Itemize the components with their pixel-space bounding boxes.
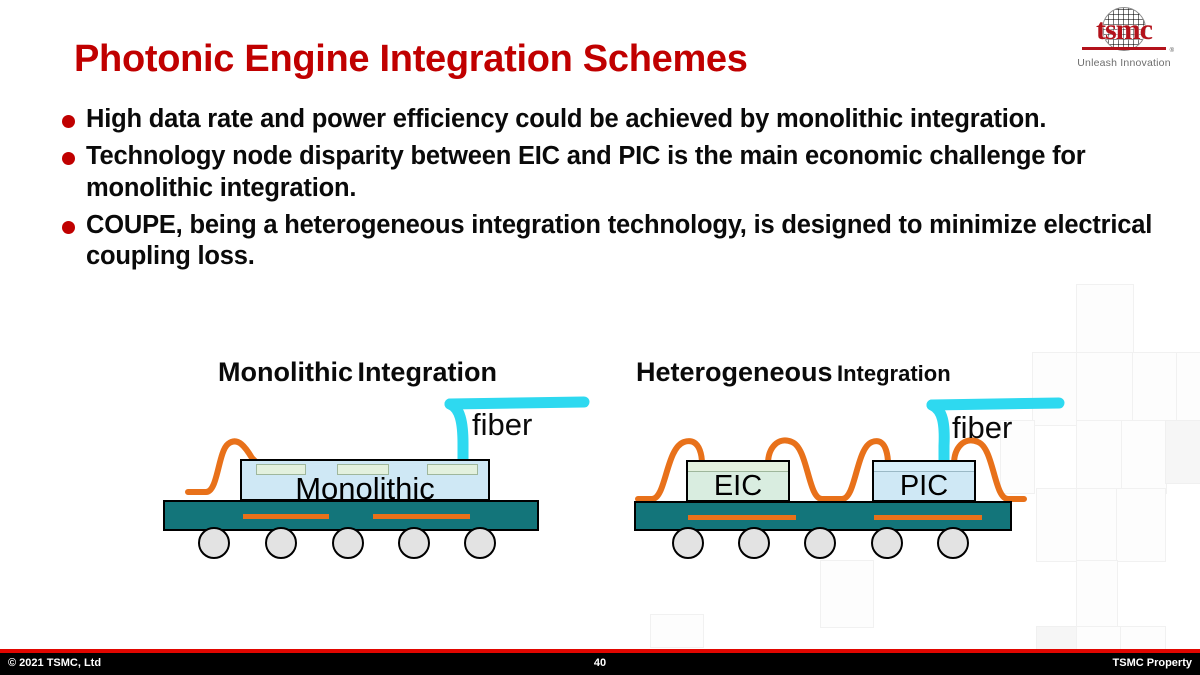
substrate-trace [243,514,329,519]
watermark-cell [1132,352,1178,426]
watermark-cell [820,560,874,628]
substrate-trace [688,515,796,520]
watermark-cell [1121,420,1167,494]
footer-property-note: TSMC Property [1113,657,1192,669]
watermark-cell [1076,284,1134,358]
chip-pic: PIC [872,460,976,502]
bullet-text: Technology node disparity between EIC an… [86,142,1085,201]
diagram-title-main: Heterogeneous [636,357,833,387]
watermark-cell [1036,626,1078,650]
solder-ball [738,527,770,559]
fiber-path [932,405,944,464]
solder-ball [464,527,496,559]
slide-canvas: tsmc ® Unleash Innovation Photonic Engin… [0,0,1200,675]
page-title: Photonic Engine Integration Schemes [74,38,748,81]
bullet-item: COUPE, being a heterogeneous integration… [56,210,1166,273]
watermark-cell [1076,560,1118,628]
watermark-cell [1165,420,1200,484]
watermark-cell [1076,626,1122,650]
fiber-label: fiber [952,410,1012,446]
diagram-monolithic: Monolithic Integration Monolithic fiber [160,352,600,567]
bullet-text: High data rate and power efficiency coul… [86,105,1046,133]
watermark-cell [1076,420,1123,494]
bullet-item: High data rate and power efficiency coul… [56,104,1166,135]
logo-underline [1082,47,1166,50]
substrate-trace [874,515,982,520]
diagram-title: Heterogeneous Integration [636,357,951,388]
diagram-heterogeneous: Heterogeneous Integration EIC PIC [632,352,1072,567]
solder-ball [937,527,969,559]
solder-ball [198,527,230,559]
fiber-path-tail [450,402,584,404]
fiber-path-tail [932,403,1059,405]
solder-ball [804,527,836,559]
substrate-trace [373,514,470,519]
watermark-cell [1176,352,1200,426]
chip-label: EIC [688,470,788,503]
solder-ball [672,527,704,559]
bullet-list: High data rate and power efficiency coul… [56,104,1166,279]
watermark-cell [650,614,704,648]
bullet-dot-icon [62,221,75,234]
logo-tagline: Unleash Innovation [1058,57,1190,69]
solder-ball [398,527,430,559]
bullet-item: Technology node disparity between EIC an… [56,141,1166,204]
bullet-text: COUPE, being a heterogeneous integration… [86,211,1152,270]
chip-label: PIC [874,470,974,503]
logo-mark: tsmc ® [1068,6,1180,56]
diagram-title-sub: Integration [357,357,497,387]
chip-eic: EIC [686,460,790,502]
tsmc-logo: tsmc ® Unleash Innovation [1058,6,1190,69]
diagram-title: Monolithic Integration [218,357,497,388]
registered-mark: ® [1170,48,1174,54]
watermark-cell [1116,488,1166,562]
bullet-dot-icon [62,115,75,128]
solder-ball [871,527,903,559]
fiber-path [450,404,463,464]
bullet-dot-icon [62,152,75,165]
fiber-label: fiber [472,407,532,443]
footer-page-number: 40 [0,657,1200,669]
diagram-title-sub: Integration [837,361,951,386]
footer-bar: © 2021 TSMC, Ltd 40 TSMC Property [0,653,1200,675]
solder-ball [265,527,297,559]
logo-wordmark: tsmc [1068,13,1180,47]
watermark-cell [1076,488,1118,562]
chip-monolithic: Monolithic [240,459,490,501]
watermark-cell [1120,626,1166,650]
diagram-title-main: Monolithic [218,357,353,387]
solder-ball [332,527,364,559]
watermark-cell [1076,352,1134,426]
